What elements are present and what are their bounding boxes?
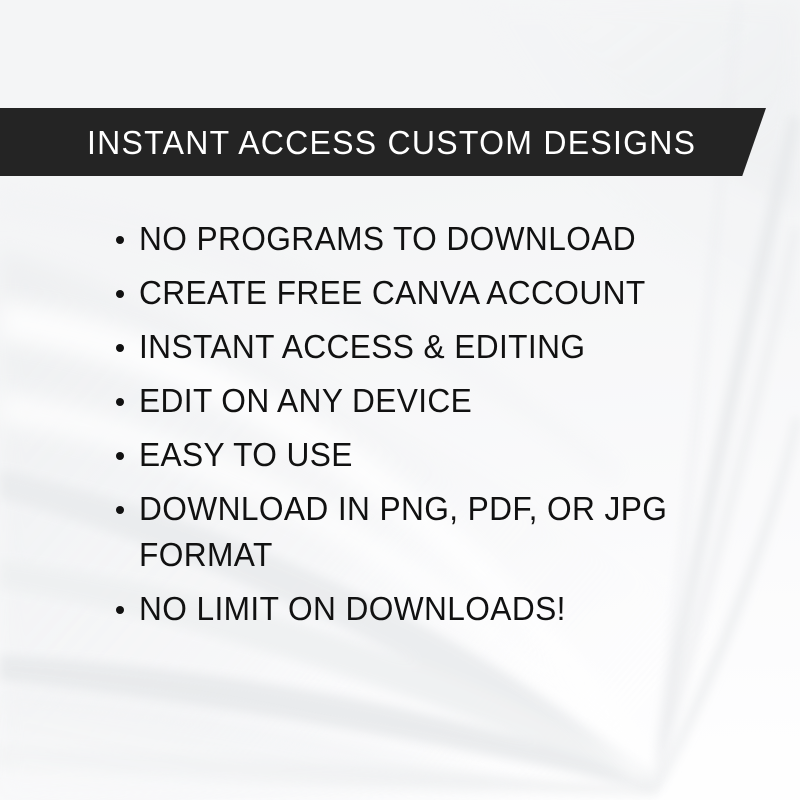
bullet-dot-icon bbox=[116, 452, 124, 460]
header-banner: INSTANT ACCESS CUSTOM DESIGNS bbox=[0, 108, 766, 176]
list-item: INSTANT ACCESS & EDITING bbox=[112, 324, 712, 370]
list-item-label: DOWNLOAD IN PNG, PDF, OR JPG FORMAT bbox=[139, 486, 689, 578]
list-item-label: NO PROGRAMS TO DOWNLOAD bbox=[139, 216, 689, 262]
list-item-label: EASY TO USE bbox=[139, 432, 689, 478]
list-item: NO PROGRAMS TO DOWNLOAD bbox=[112, 216, 712, 262]
list-item-label: EDIT ON ANY DEVICE bbox=[139, 378, 689, 424]
feature-list: NO PROGRAMS TO DOWNLOAD CREATE FREE CANV… bbox=[112, 216, 712, 640]
page-title: INSTANT ACCESS CUSTOM DESIGNS bbox=[87, 126, 696, 159]
bullet-dot-icon bbox=[116, 606, 124, 614]
bullet-dot-icon bbox=[116, 398, 124, 406]
bullet-dot-icon bbox=[116, 290, 124, 298]
bullet-dot-icon bbox=[116, 344, 124, 352]
list-item: DOWNLOAD IN PNG, PDF, OR JPG FORMAT bbox=[112, 486, 712, 578]
list-item-label: INSTANT ACCESS & EDITING bbox=[139, 324, 689, 370]
list-item-label: NO LIMIT ON DOWNLOADS! bbox=[139, 586, 689, 632]
bullet-dot-icon bbox=[116, 236, 124, 244]
list-item: EASY TO USE bbox=[112, 432, 712, 478]
list-item: EDIT ON ANY DEVICE bbox=[112, 378, 712, 424]
list-item: NO LIMIT ON DOWNLOADS! bbox=[112, 586, 712, 632]
promo-graphic-canvas: INSTANT ACCESS CUSTOM DESIGNS NO PROGRAM… bbox=[0, 0, 800, 800]
list-item: CREATE FREE CANVA ACCOUNT bbox=[112, 270, 712, 316]
list-item-label: CREATE FREE CANVA ACCOUNT bbox=[139, 270, 689, 316]
bullet-dot-icon bbox=[116, 506, 124, 514]
